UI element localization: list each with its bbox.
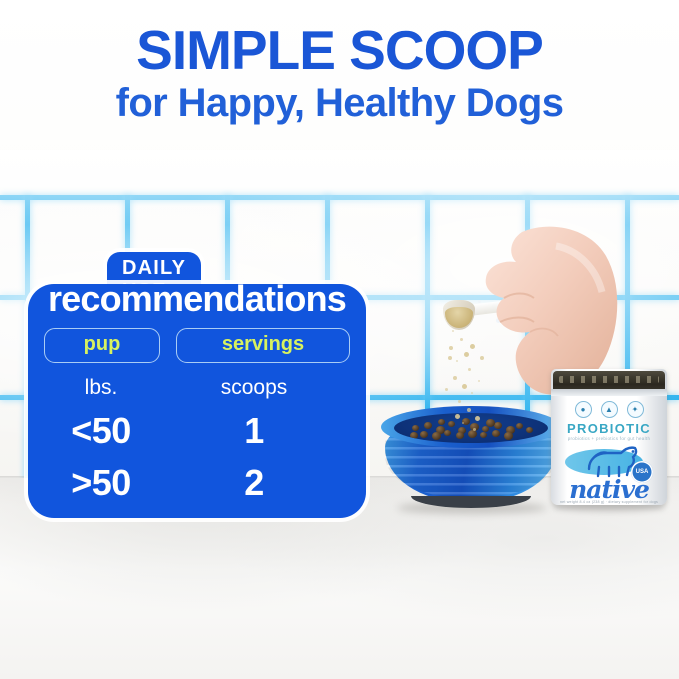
product-category: PROBIOTIC bbox=[551, 421, 667, 436]
headline-primary: SIMPLE SCOOP bbox=[0, 22, 679, 78]
subheader-scoops: scoops bbox=[221, 376, 288, 399]
column-subheaders: lbs. scoops bbox=[28, 376, 366, 400]
label-icon-badges: ● ▲ ✦ bbox=[551, 401, 667, 418]
table-row: <50 1 bbox=[28, 410, 366, 452]
row-scoops: 1 bbox=[244, 410, 264, 451]
row-scoops: 2 bbox=[244, 462, 264, 503]
pill-servings: servings bbox=[176, 328, 350, 363]
grout-line-horizontal bbox=[0, 195, 679, 200]
tin-lip bbox=[551, 389, 667, 396]
leaf-icon: ▲ bbox=[601, 401, 618, 418]
label-fine-print: net weight 8.4 oz (238 g) · dietary supp… bbox=[551, 500, 667, 504]
paw-icon: ● bbox=[575, 401, 592, 418]
product-infographic: SIMPLE SCOOP for Happy, Healthy Dogs DAI… bbox=[0, 0, 679, 679]
column-pills: pup servings bbox=[28, 328, 366, 363]
product-tin: ● ▲ ✦ PROBIOTIC probiotics + prebiotics … bbox=[551, 357, 667, 509]
dosage-card-body: recommendations pup servings lbs. scoops… bbox=[28, 284, 366, 518]
headline-secondary: for Happy, Healthy Dogs bbox=[0, 82, 679, 124]
table-row: >50 2 bbox=[28, 462, 366, 504]
tin-body: ● ▲ ✦ PROBIOTIC probiotics + prebiotics … bbox=[551, 369, 667, 505]
subheader-lbs: lbs. bbox=[85, 376, 118, 399]
page-title: SIMPLE SCOOP for Happy, Healthy Dogs bbox=[0, 22, 679, 124]
row-weight: >50 bbox=[71, 462, 131, 503]
pill-pup: pup bbox=[44, 328, 160, 363]
row-weight: <50 bbox=[71, 410, 131, 451]
tile-top-fade bbox=[0, 150, 679, 225]
card-title: recommendations bbox=[28, 278, 366, 320]
shield-icon: ✦ bbox=[627, 401, 644, 418]
